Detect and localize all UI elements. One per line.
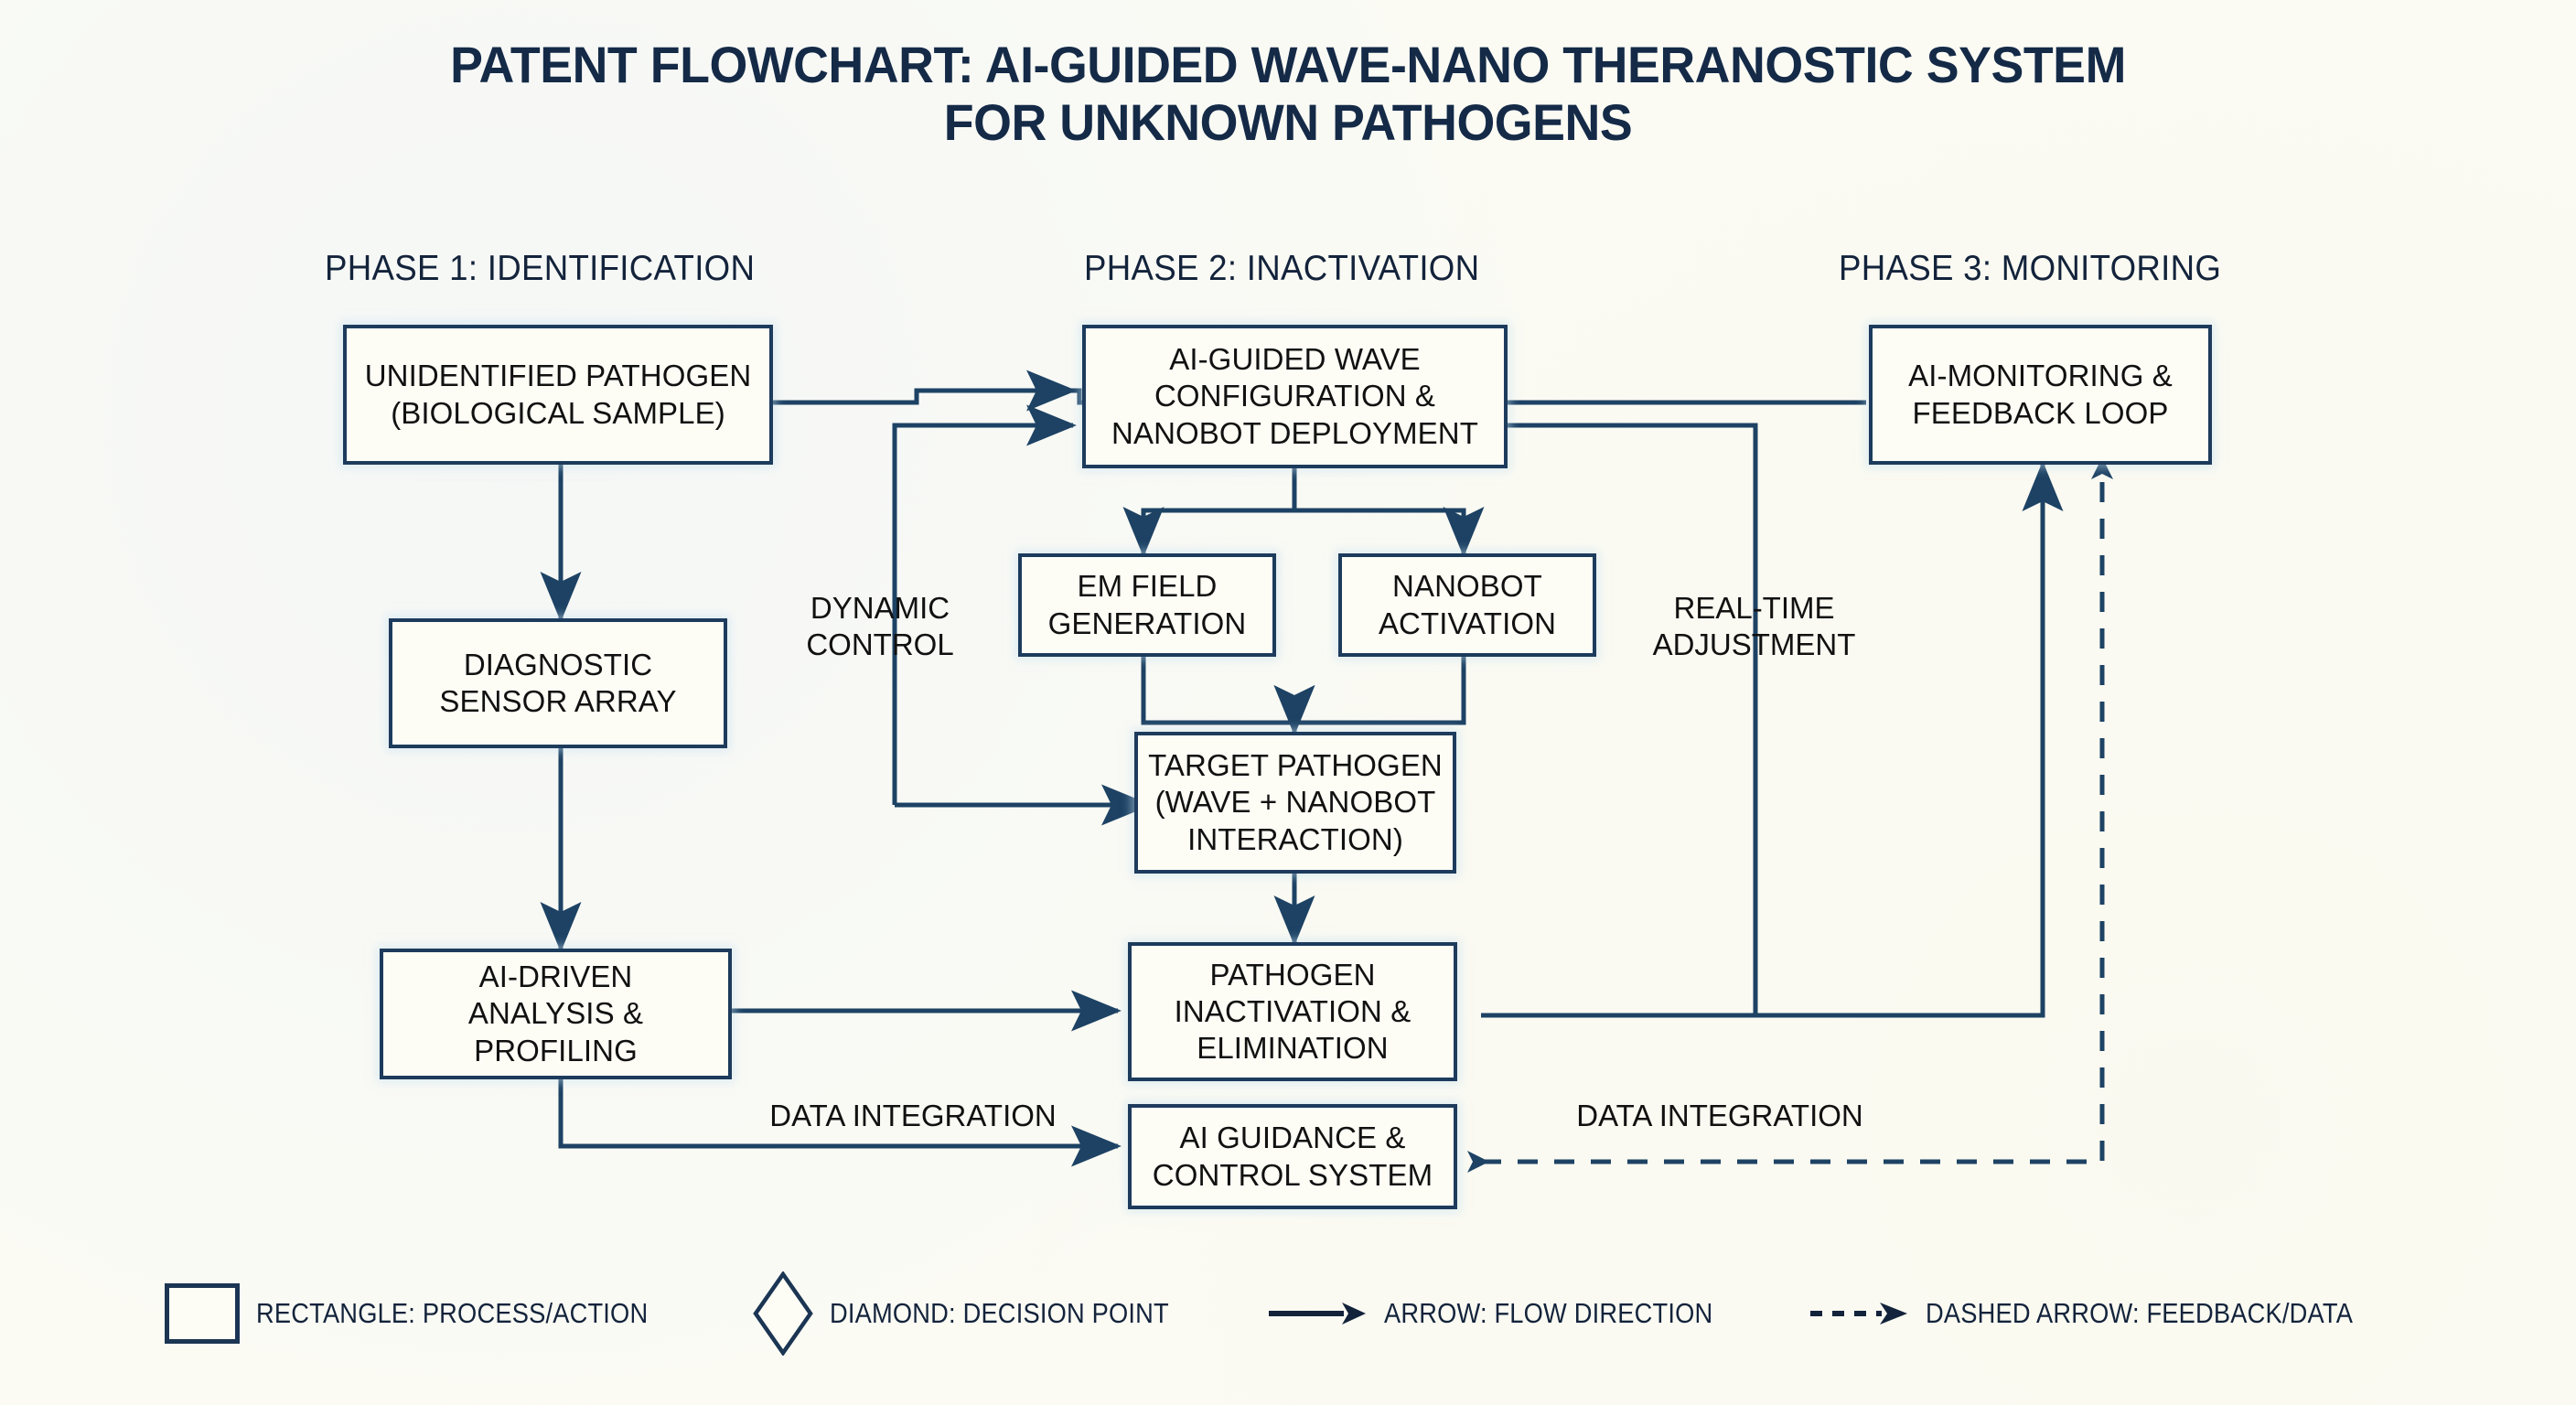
legend-label-arrow: ARROW: FLOW DIRECTION — [1384, 1297, 1712, 1330]
node-ai-guided-wave-config[interactable]: AI-GUIDED WAVE CONFIGURATION & NANOBOT D… — [1082, 325, 1508, 468]
phase-header-inactivation: PHASE 2: INACTIVATION — [1084, 249, 1479, 289]
node-ai-monitoring-feedback[interactable]: AI-MONITORING & FEEDBACK LOOP — [1869, 325, 2212, 465]
edge-pathogen-to-waveconfig — [773, 391, 1073, 402]
node-em-field-generation-label: EM FIELD GENERATION — [1041, 568, 1254, 642]
node-diagnostic-sensor-array[interactable]: DIAGNOSTIC SENSOR ARRAY — [389, 618, 727, 748]
page-title-line-1: PATENT FLOWCHART: AI-GUIDED WAVE-NANO TH… — [450, 36, 2126, 93]
dashed-arrowhead-left — [1467, 1151, 1489, 1173]
edge-inactivation-to-monitoring — [1481, 465, 2043, 1015]
page-title-line-2: FOR UNKNOWN PATHOGENS — [51, 94, 2524, 152]
phase-header-monitoring: PHASE 3: MONITORING — [1839, 249, 2221, 289]
edge-label-data-integration-left: DATA INTEGRATION — [748, 1098, 1078, 1134]
node-target-pathogen-label: TARGET PATHOGEN (WAVE + NANOBOT INTERACT… — [1141, 747, 1450, 858]
node-em-field-generation[interactable]: EM FIELD GENERATION — [1018, 553, 1276, 657]
edge-emfield-to-targetpathogen — [1143, 657, 1294, 732]
node-ai-guided-wave-config-label: AI-GUIDED WAVE CONFIGURATION & NANOBOT D… — [1104, 341, 1486, 452]
node-ai-guidance-control-label: AI GUIDANCE & CONTROL SYSTEM — [1145, 1120, 1440, 1194]
edge-waveconfig-to-nanobot — [1294, 468, 1464, 553]
legend-item-arrow: ARROW: FLOW DIRECTION — [1267, 1297, 1757, 1330]
page-title: PATENT FLOWCHART: AI-GUIDED WAVE-NANO TH… — [51, 37, 2524, 151]
legend-item-dashed-arrow: DASHED ARROW: FEEDBACK/DATA — [1809, 1297, 2411, 1330]
node-pathogen-inactivation-label: PATHOGEN INACTIVATION & ELIMINATION — [1167, 957, 1419, 1067]
node-ai-monitoring-feedback-label: AI-MONITORING & FEEDBACK LOOP — [1901, 358, 2180, 432]
edge-waveconfig-to-emfield — [1143, 468, 1294, 553]
legend-item-rectangle: RECTANGLE: PROCESS/ACTION — [165, 1283, 702, 1344]
edge-nanobot-to-targetpathogen — [1294, 657, 1464, 732]
node-nanobot-activation[interactable]: NANOBOT ACTIVATION — [1338, 553, 1596, 657]
legend-label-dashed-arrow: DASHED ARROW: FEEDBACK/DATA — [1926, 1297, 2353, 1330]
dashed-arrow-icon — [1809, 1300, 1909, 1327]
node-ai-guidance-control[interactable]: AI GUIDANCE & CONTROL SYSTEM — [1128, 1104, 1457, 1209]
node-target-pathogen[interactable]: TARGET PATHOGEN (WAVE + NANOBOT INTERACT… — [1134, 732, 1456, 874]
edge-label-real-time-adjustment: REAL-TIME ADJUSTMENT — [1642, 590, 1866, 662]
legend-label-rectangle: RECTANGLE: PROCESS/ACTION — [256, 1297, 648, 1330]
diamond-icon — [753, 1271, 813, 1356]
node-unidentified-pathogen-label: UNIDENTIFIED PATHOGEN (BIOLOGICAL SAMPLE… — [358, 358, 759, 432]
legend: RECTANGLE: PROCESS/ACTION DIAMOND: DECIS… — [0, 1270, 2576, 1357]
node-pathogen-inactivation[interactable]: PATHOGEN INACTIVATION & ELIMINATION — [1128, 942, 1457, 1081]
node-ai-driven-analysis-label: AI-DRIVEN ANALYSIS & PROFILING — [383, 959, 728, 1069]
node-ai-driven-analysis[interactable]: AI-DRIVEN ANALYSIS & PROFILING — [380, 949, 732, 1079]
node-nanobot-activation-label: NANOBOT ACTIVATION — [1371, 568, 1563, 642]
arrow-icon — [1267, 1300, 1368, 1327]
node-unidentified-pathogen[interactable]: UNIDENTIFIED PATHOGEN (BIOLOGICAL SAMPLE… — [343, 325, 773, 465]
legend-item-diamond: DIAMOND: DECISION POINT — [753, 1271, 1215, 1356]
edge-realtime-adjustment-to-waveconfig — [1093, 425, 1755, 1015]
legend-label-diamond: DIAMOND: DECISION POINT — [830, 1297, 1169, 1330]
edge-label-dynamic-control: DYNAMIC CONTROL — [789, 590, 971, 662]
rectangle-icon — [165, 1283, 240, 1344]
edge-label-data-integration-right: DATA INTEGRATION — [1555, 1098, 1884, 1134]
flowchart-canvas: PATENT FLOWCHART: AI-GUIDED WAVE-NANO TH… — [0, 0, 2576, 1405]
node-diagnostic-sensor-array-label: DIAGNOSTIC SENSOR ARRAY — [432, 647, 683, 721]
phase-header-identification: PHASE 1: IDENTIFICATION — [325, 249, 755, 289]
